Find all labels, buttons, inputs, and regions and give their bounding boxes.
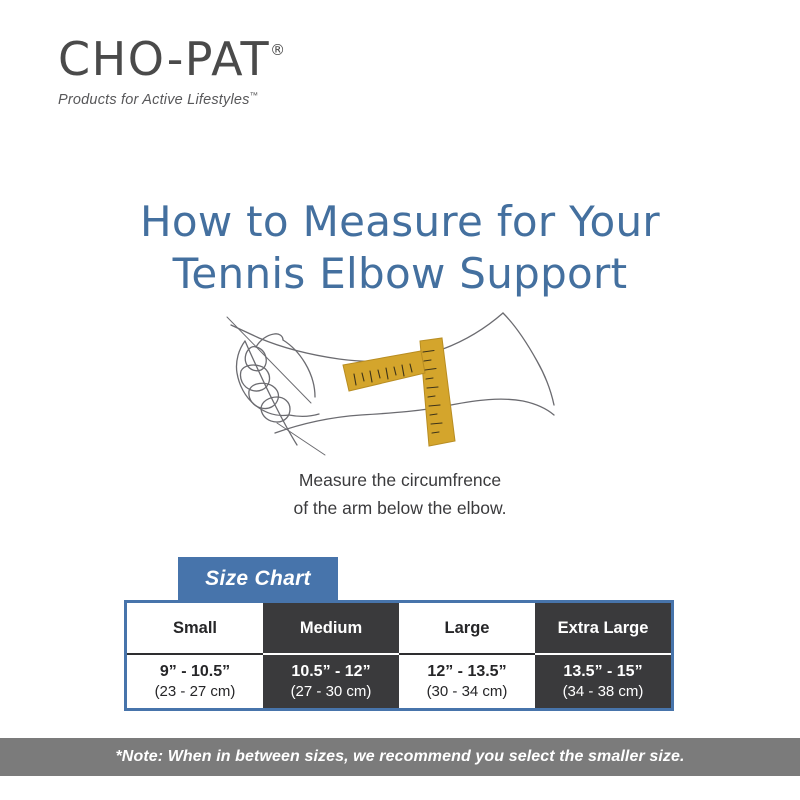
brand-tagline: Products for Active Lifestyles™ xyxy=(58,90,285,108)
size-chart-tab: Size Chart xyxy=(178,557,338,600)
size-column-large: Large 12” - 13.5” (30 - 34 cm) xyxy=(399,603,535,708)
size-column-medium: Medium 10.5” - 12” (27 - 30 cm) xyxy=(263,603,399,708)
size-value-medium: 10.5” - 12” (27 - 30 cm) xyxy=(263,655,399,708)
measure-instruction-line-2: of the arm below the elbow. xyxy=(0,494,800,522)
size-value-large: 12” - 13.5” (30 - 34 cm) xyxy=(399,655,535,708)
brand-tagline-text: Products for Active Lifestyles xyxy=(58,92,250,108)
measure-instruction: Measure the circumfrence of the arm belo… xyxy=(0,466,800,522)
size-cm-medium: (27 - 30 cm) xyxy=(291,682,372,702)
size-guide-page: CHO-PAT® Products for Active Lifestyles™… xyxy=(0,0,800,800)
size-inches-large: 12” - 13.5” xyxy=(427,662,506,682)
brand-wordmark: CHO-PAT® xyxy=(58,36,285,82)
size-header-extra-large: Extra Large xyxy=(535,603,671,655)
size-inches-extra-large: 13.5” - 15” xyxy=(563,662,642,682)
trademark-icon: ™ xyxy=(250,90,259,100)
page-title: How to Measure for Your Tennis Elbow Sup… xyxy=(0,196,800,300)
tape-measure xyxy=(343,338,455,446)
size-cm-small: (23 - 27 cm) xyxy=(155,682,236,702)
size-header-small: Small xyxy=(127,603,263,655)
brand-logo: CHO-PAT® Products for Active Lifestyles™ xyxy=(58,36,285,108)
size-chart-table: Small 9” - 10.5” (23 - 27 cm) Medium 10.… xyxy=(124,600,674,711)
size-value-small: 9” - 10.5” (23 - 27 cm) xyxy=(127,655,263,708)
footer-note: *Note: When in between sizes, we recomme… xyxy=(0,738,800,776)
measure-instruction-line-1: Measure the circumfrence xyxy=(299,470,501,490)
size-column-small: Small 9” - 10.5” (23 - 27 cm) xyxy=(127,603,263,708)
size-inches-small: 9” - 10.5” xyxy=(160,662,230,682)
page-title-line-1: How to Measure for Your xyxy=(140,197,660,246)
brand-wordmark-text: CHO-PAT xyxy=(58,32,270,86)
page-title-line-2: Tennis Elbow Support xyxy=(0,248,800,300)
size-value-extra-large: 13.5” - 15” (34 - 38 cm) xyxy=(535,655,671,708)
size-inches-medium: 10.5” - 12” xyxy=(291,662,370,682)
size-column-extra-large: Extra Large 13.5” - 15” (34 - 38 cm) xyxy=(535,603,671,708)
registered-trademark-icon: ® xyxy=(270,41,285,59)
size-cm-large: (30 - 34 cm) xyxy=(427,682,508,702)
size-header-large: Large xyxy=(399,603,535,655)
size-cm-extra-large: (34 - 38 cm) xyxy=(563,682,644,702)
size-header-medium: Medium xyxy=(263,603,399,655)
arm-measuring-illustration xyxy=(215,305,555,460)
